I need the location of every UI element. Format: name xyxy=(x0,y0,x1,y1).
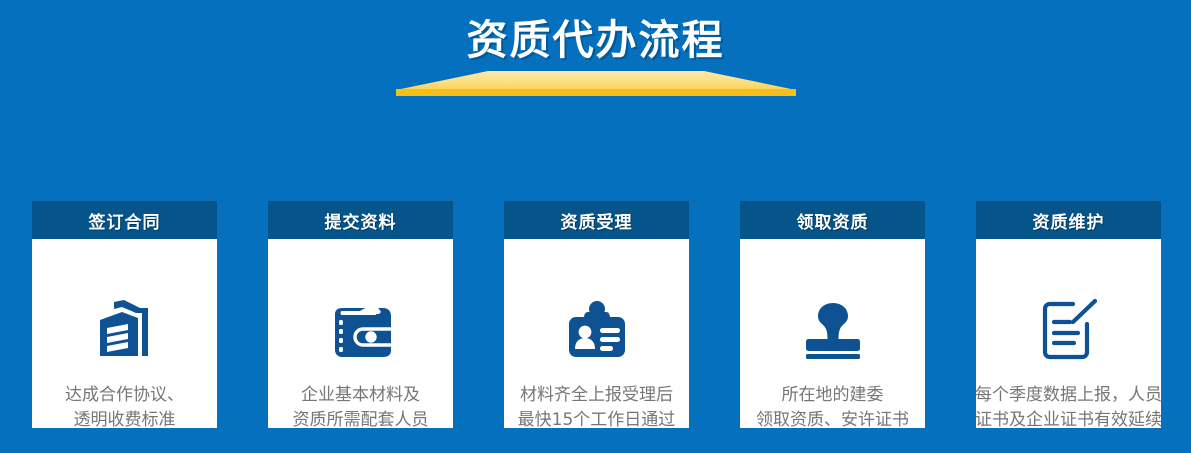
step-card-2-text: 企业基本材料及 资质所需配套人员 xyxy=(260,383,461,433)
step-card-3-text: 材料齐全上报受理后 最快15个工作日通过 xyxy=(496,383,697,433)
step-card-4-body: 所在地的建委 领取资质、安许证书 xyxy=(740,239,925,428)
step-card-2-header: 提交资料 xyxy=(268,201,453,239)
id-badge-icon xyxy=(504,295,689,365)
step-card-5[interactable]: 资质维护 每个季度数据上报，人员 证书及企业证书有效延续 xyxy=(976,201,1161,428)
flow-diagram-stage: 资质代办流程 签订合同 xyxy=(0,0,1191,453)
rubber-stamp-icon xyxy=(740,295,925,365)
step-card-4-header: 领取资质 xyxy=(740,201,925,239)
step-card-4[interactable]: 领取资质 所在地的建委 领取资质、安许证书 xyxy=(740,201,925,428)
document-edit-icon xyxy=(976,295,1161,365)
step-card-2[interactable]: 提交资料 xyxy=(268,201,453,428)
step-card-4-text: 所在地的建委 领取资质、安许证书 xyxy=(732,383,933,433)
page-title: 资质代办流程 xyxy=(0,14,1191,66)
step-card-1-header: 签订合同 xyxy=(32,201,217,239)
step-card-5-text: 每个季度数据上报，人员 证书及企业证书有效延续 xyxy=(968,383,1169,433)
factory-building-icon xyxy=(32,295,217,365)
step-card-5-header: 资质维护 xyxy=(976,201,1161,239)
process-steps-row: 签订合同 xyxy=(32,201,1191,429)
step-card-3-body: 材料齐全上报受理后 最快15个工作日通过 xyxy=(504,239,689,428)
wallet-icon xyxy=(268,295,453,365)
step-card-5-body: 每个季度数据上报，人员 证书及企业证书有效延续 xyxy=(976,239,1161,428)
step-card-1-text: 达成合作协议、 透明收费标准 xyxy=(24,383,225,433)
step-card-3-header: 资质受理 xyxy=(504,201,689,239)
title-block: 资质代办流程 xyxy=(0,0,1191,110)
step-card-2-body: 企业基本材料及 资质所需配套人员 xyxy=(268,239,453,428)
step-card-1[interactable]: 签订合同 xyxy=(32,201,217,428)
step-card-3[interactable]: 资质受理 xyxy=(504,201,689,428)
platform-decoration xyxy=(396,71,796,99)
step-card-1-body: 达成合作协议、 透明收费标准 xyxy=(32,239,217,428)
